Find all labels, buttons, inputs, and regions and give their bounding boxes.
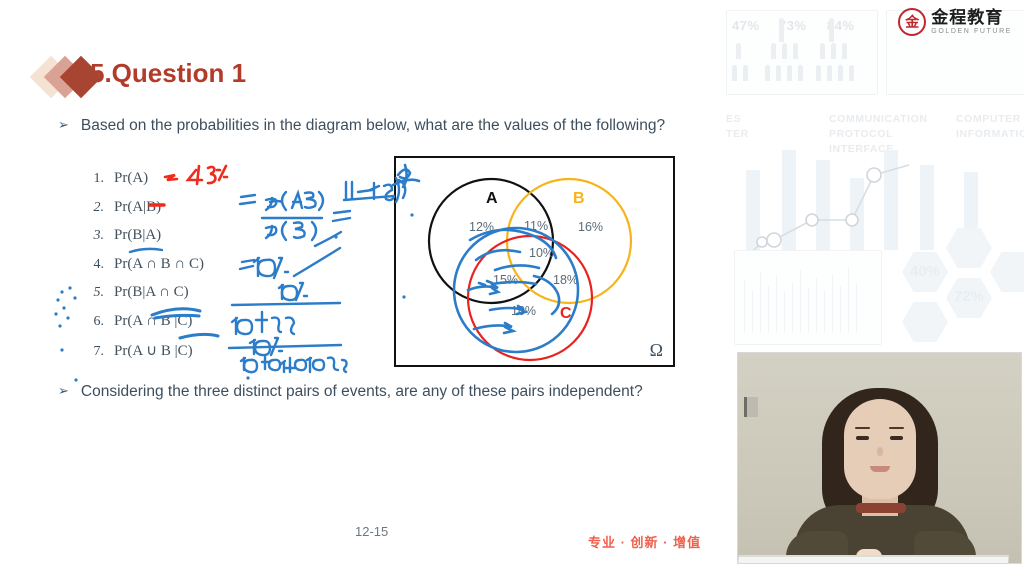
deco-sparkline-tick: [856, 284, 857, 332]
deco-person-icon: [787, 65, 792, 81]
deco-sparkline-tick: [768, 286, 769, 332]
presenter-collar: [856, 503, 906, 513]
deco-person-icon: [829, 18, 834, 42]
deco-word-5: COMPUTER: [956, 113, 1021, 125]
deco-sparkline-tick: [792, 282, 793, 332]
venn-label-c: C: [560, 305, 572, 323]
list-item: 3. Pr(B|A): [78, 227, 204, 256]
deco-person-icon: [771, 43, 776, 59]
deco-sparkline-tick: [744, 280, 745, 332]
deco-person-icon: [793, 43, 798, 59]
logo-chinese-name: 金程教育: [931, 9, 1012, 26]
venn-diagram: A B C 12% 11% 16% 10% 15% 18% 10% Ω: [394, 156, 675, 367]
ink-blue-curve: [294, 248, 340, 276]
question-list: 1. Pr(A) 2. Pr(A|B) 3. Pr(B|A) 4. Pr(A ∩…: [78, 170, 204, 370]
venn-label-a: A: [486, 190, 498, 208]
deco-sparkline-tick: [776, 276, 777, 332]
deco-person-icon: [838, 65, 843, 81]
logo-mark-icon: 金: [898, 8, 926, 36]
venn-region-b-only: 16%: [578, 220, 603, 234]
list-item-label: Pr(A|B): [114, 199, 161, 216]
list-item: 4. Pr(A ∩ B ∩ C): [78, 256, 204, 285]
deco-person-icon: [831, 43, 836, 59]
list-item: 7. Pr(A ∪ B |C): [78, 341, 204, 370]
deco-sparkline-tick: [760, 272, 761, 332]
venn-circles: [396, 158, 673, 365]
wall-switch: [744, 397, 758, 417]
deco-sparkline-tick: [752, 290, 753, 332]
presenter-eye-left: [856, 436, 869, 440]
list-item: 5. Pr(B|A ∩ C): [78, 284, 204, 313]
deco-person-icon: [736, 43, 741, 59]
slide-title-row: 5.Question 1: [36, 58, 246, 89]
page-title: 5.Question 1: [90, 58, 246, 89]
deco-person-icon: [782, 43, 787, 59]
deco-sparkline-tick: [824, 290, 825, 332]
laptop-screen: [737, 555, 1009, 564]
deco-word-2: COMMUNICATION: [829, 113, 928, 125]
ink-blue-fraction-2: [229, 283, 347, 372]
bullet-2-text: Considering the three distinct pairs of …: [81, 380, 643, 403]
deco-word-3: PROTOCOL: [829, 128, 893, 140]
venn-region-abc: 10%: [529, 246, 554, 260]
presenter-eyebrow-left: [855, 427, 870, 429]
list-item-label: Pr(A ∩ B ∩ C): [114, 256, 204, 273]
deco-person-icon: [779, 18, 784, 42]
presenter-mouth: [870, 466, 890, 472]
ink-blue-10-percent-item4: [240, 258, 288, 278]
arrow-bullet-icon: ➢: [58, 380, 69, 403]
footer-slogan: 专业 · 创新 · 增值: [588, 532, 701, 551]
list-item-label: Pr(B|A): [114, 227, 161, 244]
omega-symbol: Ω: [650, 340, 663, 361]
list-item-number: 4.: [78, 257, 104, 273]
deco-percent-0: 47%: [732, 18, 760, 33]
list-item-label: Pr(A): [114, 170, 148, 187]
deco-person-icon: [765, 65, 770, 81]
venn-region-ab-only: 11%: [524, 219, 548, 233]
list-item: 6. Pr(A ∩ B |C): [78, 313, 204, 342]
deco-sparkline-tick: [832, 274, 833, 332]
deco-person-icon: [732, 65, 737, 81]
deco-person-icon: [842, 43, 847, 59]
brand-logo: 金 金程教育 GOLDEN FUTURE: [898, 8, 1012, 36]
venn-region-ac-only: 15%: [493, 273, 518, 287]
arrow-bullet-icon: ➢: [58, 114, 69, 137]
deco-person-icon: [849, 65, 854, 81]
webcam-video-panel[interactable]: [737, 352, 1022, 564]
deco-hex-percent-0: 40%: [910, 263, 940, 280]
logo-text-block: 金程教育 GOLDEN FUTURE: [931, 9, 1012, 35]
page-number: 12-15: [355, 524, 388, 539]
presenter-eyebrow-right: [889, 427, 904, 429]
deco-person-icon: [776, 65, 781, 81]
list-item-label: Pr(B|A ∩ C): [114, 284, 189, 301]
venn-region-bc-only: 18%: [553, 273, 578, 287]
deco-hexagon: [902, 302, 948, 342]
deco-sparkline-tick: [784, 292, 785, 332]
list-item-label: Pr(A ∪ B |C): [114, 341, 193, 360]
venn-region-a-only: 12%: [469, 220, 494, 234]
bullet-1-text: Based on the probabilities in the diagra…: [81, 114, 665, 137]
deco-word-6: INFORMATION: [956, 128, 1024, 140]
deco-person-icon: [798, 65, 803, 81]
bullet-item-2: ➢ Considering the three distinct pairs o…: [58, 380, 643, 403]
logo-english-name: GOLDEN FUTURE: [931, 28, 1012, 35]
list-item-number: 6.: [78, 314, 104, 330]
presenter-eye-right: [890, 436, 903, 440]
list-item-label: Pr(A ∩ B |C): [114, 313, 192, 330]
deco-word-0: ES: [726, 113, 741, 125]
deco-word-1: TER: [726, 128, 749, 140]
list-item-number: 5.: [78, 285, 104, 301]
ink-blue-fraction-1: [240, 192, 350, 246]
deco-person-icon: [816, 65, 821, 81]
deco-person-icon: [820, 43, 825, 59]
list-item: 2. Pr(A|B): [78, 199, 204, 228]
venn-region-c-only: 10%: [511, 304, 536, 318]
list-item-number: 1.: [78, 171, 104, 187]
bullet-item-1: ➢ Based on the probabilities in the diag…: [58, 114, 665, 137]
venn-label-b: B: [573, 190, 585, 208]
list-item-number: 7.: [78, 344, 104, 360]
presenter-nose: [877, 447, 883, 456]
deco-sparkline-tick: [848, 268, 849, 332]
deco-sparkline-tick: [840, 286, 841, 332]
list-item-number: 2.: [78, 200, 104, 216]
deco-person-icon: [827, 65, 832, 81]
list-item-number: 3.: [78, 228, 104, 244]
deco-hex-percent-1: 72%: [954, 288, 984, 305]
deco-person-icon: [743, 65, 748, 81]
list-item: 1. Pr(A): [78, 170, 204, 199]
deco-sparkline-tick: [800, 270, 801, 332]
deco-sparkline-tick: [816, 278, 817, 332]
deco-sparkline-tick: [808, 288, 809, 332]
